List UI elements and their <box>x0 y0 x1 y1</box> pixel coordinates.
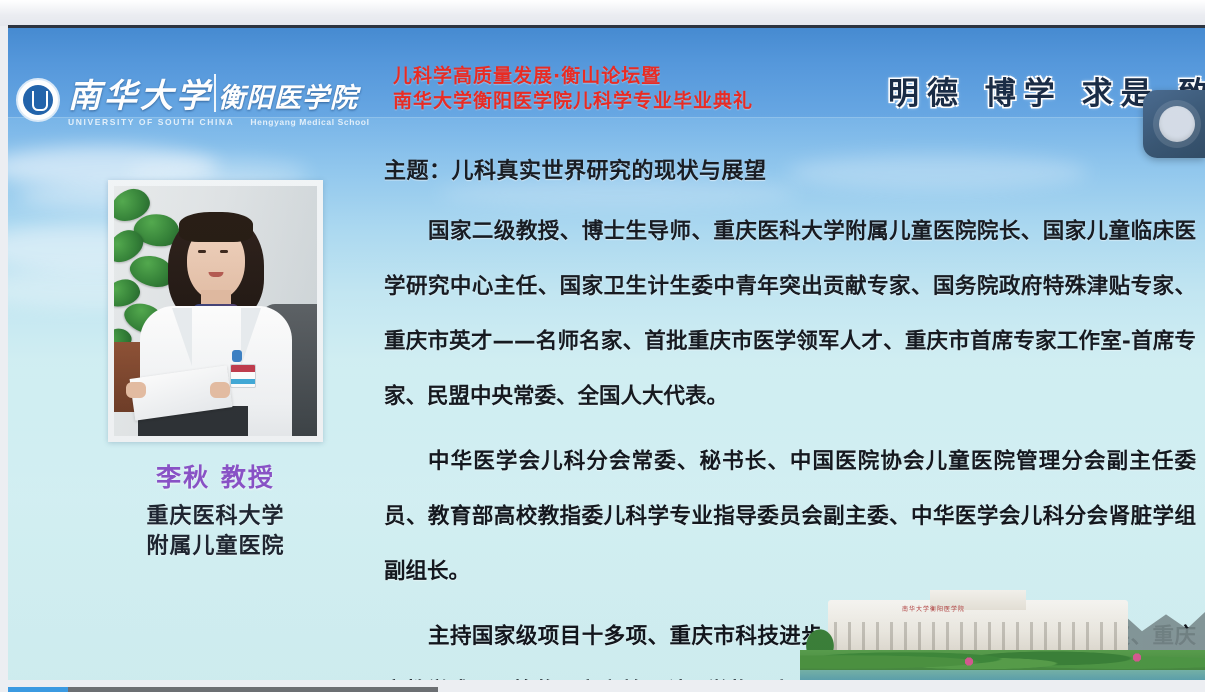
logo-divider <box>214 74 216 112</box>
speaker-panel: 李秋 教授 重庆医科大学 附属儿童医院 <box>108 180 323 562</box>
player-top-chrome <box>0 0 1205 26</box>
university-emblem-icon <box>16 78 60 122</box>
speaker-organization: 重庆医科大学 附属儿童医院 <box>108 502 323 562</box>
conference-title-line2: 南华大学衡阳医学院儿科学专业毕业典礼 <box>393 89 753 114</box>
bio-paragraph-1: 国家二级教授、博士生导师、重庆医科大学附属儿童医院院长、国家儿童临床医学研究中心… <box>384 204 1196 424</box>
logo-school-cn: 衡阳医学院 <box>218 85 358 112</box>
video-progress-fill[interactable] <box>8 687 68 692</box>
logo-school-en: Hengyang Medical School <box>250 118 369 127</box>
bio-paragraph-2: 中华医学会儿科分会常委、秘书长、中国医院协会儿童医院管理分会副主任委员、教育部高… <box>384 434 1196 599</box>
speaker-organization-line1: 重庆医科大学 <box>108 502 323 532</box>
speaker-name: 李秋 教授 <box>108 458 323 494</box>
conference-title-line1: 儿科学高质量发展·衡山论坛暨 <box>393 64 753 89</box>
logo-university-en: UNIVERSITY OF SOUTH CHINA <box>68 118 234 127</box>
university-logo: 南华大学 衡阳医学院 UNIVERSITY OF SOUTH CHINA Hen… <box>16 74 370 127</box>
conference-title: 儿科学高质量发展·衡山论坛暨 南华大学衡阳医学院儿科学专业毕业典礼 <box>393 64 753 114</box>
logo-university-cn: 南华大学 <box>68 79 212 112</box>
video-progress-track[interactable] <box>8 687 438 692</box>
speaker-portrait-photo <box>114 186 317 436</box>
bio-paragraph-3: 主持国家级项目十多项、重庆市科技进步一等奖、教育部科技进步二等奖、重庆市教学成果… <box>384 609 1196 680</box>
slide-subject: 主题：儿科真实世界研究的现状与展望 <box>384 156 1196 188</box>
speaker-organization-line2: 附属儿童医院 <box>108 532 323 562</box>
slide-header-band: 南华大学 衡阳医学院 UNIVERSITY OF SOUTH CHINA Hen… <box>8 28 1205 118</box>
video-player: 南华大学 衡阳医学院 UNIVERSITY OF SOUTH CHINA Hen… <box>0 0 1205 692</box>
presentation-slide: 南华大学 衡阳医学院 UNIVERSITY OF SOUTH CHINA Hen… <box>8 28 1205 680</box>
speaker-photo-frame <box>108 180 323 442</box>
player-control-circle-icon[interactable] <box>1143 90 1205 158</box>
slide-body: 主题：儿科真实世界研究的现状与展望 国家二级教授、博士生导师、重庆医科大学附属儿… <box>384 156 1196 680</box>
